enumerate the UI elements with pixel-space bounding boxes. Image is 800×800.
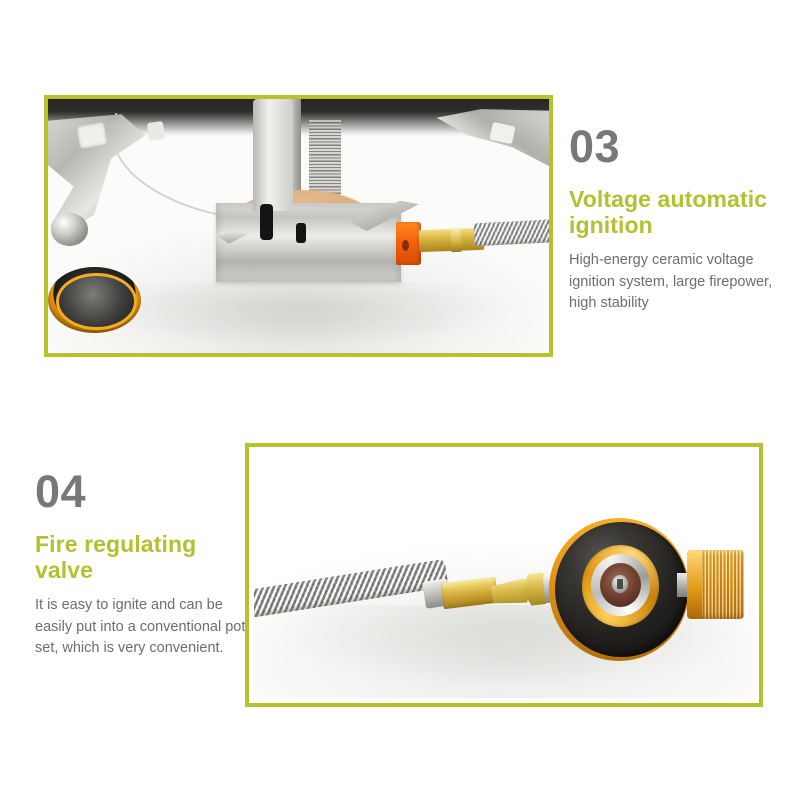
burner-base-ring	[56, 273, 137, 330]
valve-pin-slot	[617, 579, 623, 589]
product-photo-burner	[48, 99, 549, 353]
product-photo-frame-04	[245, 443, 763, 707]
braided-steel-hose	[473, 219, 549, 247]
step-heading-03: Voltage automatic ignition	[569, 186, 791, 238]
text-block-04: 04 Fire regulating valve It is easy to i…	[35, 467, 253, 660]
product-photo-regulator-valve	[254, 452, 754, 698]
infographic-page: 03 Voltage automatic ignition High-energ…	[0, 0, 800, 800]
step-description-03: High-energy ceramic voltage ignition sys…	[569, 250, 791, 315]
ball-foot	[51, 213, 89, 246]
arm-left-hole-2	[147, 121, 165, 141]
step-heading-04: Fire regulating valve	[35, 531, 253, 583]
brass-fitting-segment	[451, 227, 462, 251]
step-number-04: 04	[35, 467, 253, 517]
step-description-04: It is easy to ignite and can be easily p…	[35, 595, 253, 660]
bracket-upright	[253, 99, 293, 211]
text-block-03: 03 Voltage automatic ignition High-energ…	[569, 122, 791, 315]
step-number-03: 03	[569, 122, 791, 172]
bracket-slot-2	[296, 223, 306, 242]
gas-control-knob-cap	[687, 550, 702, 619]
product-photo-frame-03	[44, 95, 553, 357]
bracket-slot-1	[260, 204, 273, 240]
